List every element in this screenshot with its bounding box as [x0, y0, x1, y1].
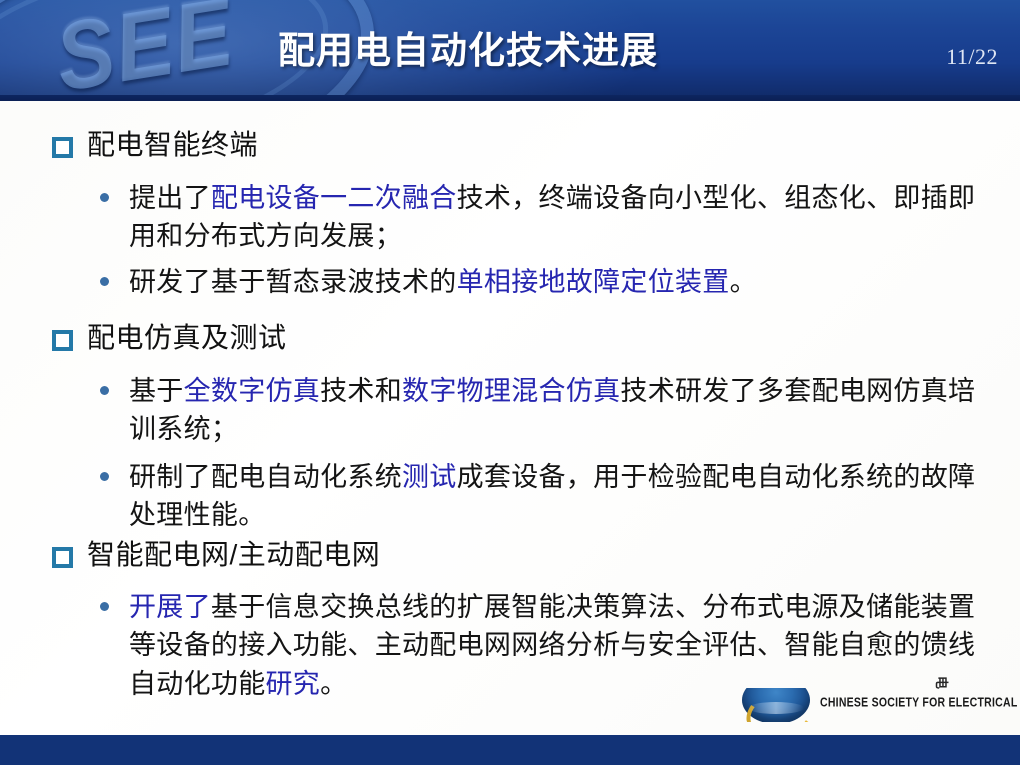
footer-bar: [0, 735, 1020, 765]
dot-bullet-icon: [100, 386, 109, 395]
square-bullet-icon: [52, 137, 73, 158]
bullet-run: 。: [320, 669, 347, 699]
bullet-run: 提出了: [129, 183, 211, 213]
bullet-item: 提出了配电设备一二次融合技术，终端设备向小型化、组态化、即插即用和分布式方向发展…: [100, 179, 980, 256]
csee-globe-logo-icon: [742, 688, 810, 722]
square-bullet-icon: [52, 330, 73, 351]
bullet-text: 开展了基于信息交换总线的扩展智能决策算法、分布式电源及储能装置等设备的接入功能、…: [129, 588, 980, 703]
slide-content: 配电智能终端 提出了配电设备一二次融合技术，终端设备向小型化、组态化、即插即用和…: [0, 101, 1020, 735]
dot-bullet-icon: [100, 193, 109, 202]
page-title: 配用电自动化技术进展: [278, 20, 658, 74]
dot-bullet-icon: [100, 472, 109, 481]
section-heading-3: 智能配电网/主动配电网: [52, 538, 952, 572]
section-heading-1: 配电智能终端: [52, 128, 952, 162]
bullet-text: 基于全数字仿真技术和数字物理混合仿真技术研发了多套配电网仿真培训系统；: [129, 372, 980, 449]
bullet-run: 基于: [129, 376, 184, 406]
bullet-run: 。: [730, 267, 757, 297]
bullet-text: 提出了配电设备一二次融合技术，终端设备向小型化、组态化、即插即用和分布式方向发展…: [129, 179, 980, 256]
bullet-run-highlight: 开展了: [129, 592, 211, 622]
corner-mark-label: 电: [933, 676, 952, 688]
bullet-item: 研发了基于暂态录波技术的单相接地故障定位装置。: [100, 263, 980, 301]
globe-band-shape: [748, 702, 804, 714]
bullet-run-highlight: 数字物理混合仿真: [402, 376, 620, 406]
bullet-run-highlight: 单相接地故障定位装置: [457, 267, 730, 297]
slide-header: SEE 配用电自动化技术进展 11/22: [0, 0, 1020, 101]
bullet-run-highlight: 测试: [402, 462, 457, 492]
section-heading-label: 智能配电网/主动配电网: [87, 538, 380, 572]
page-number-indicator: 11/22: [946, 44, 998, 70]
section-heading-label: 配电智能终端: [87, 128, 258, 162]
dot-bullet-icon: [100, 277, 109, 286]
bullet-item: 开展了基于信息交换总线的扩展智能决策算法、分布式电源及储能装置等设备的接入功能、…: [100, 588, 980, 703]
bullet-text: 研制了配电自动化系统测试成套设备，用于检验配电自动化系统的故障处理性能。: [129, 458, 980, 535]
section-heading-label: 配电仿真及测试: [87, 321, 287, 355]
csee-watermark-logo: SEE: [48, 0, 241, 101]
bullet-text: 研发了基于暂态录波技术的单相接地故障定位装置。: [129, 263, 757, 301]
bullet-run-highlight: 配电设备一二次融合: [211, 183, 457, 213]
bullet-run-highlight: 研究: [266, 669, 321, 699]
bullet-item: 研制了配电自动化系统测试成套设备，用于检验配电自动化系统的故障处理性能。: [100, 458, 980, 535]
bullet-run: 基于信息交换总线的扩展智能决策算法、分布式电源及储能装置等设备的接入功能、主动配…: [129, 592, 975, 699]
bullet-run: 研制了配电自动化系统: [129, 462, 402, 492]
organization-name: CHINESE SOCIETY FOR ELECTRICAL ENGINEERI…: [820, 695, 1020, 710]
bullet-run-highlight: 全数字仿真: [184, 376, 321, 406]
slide: SEE 配用电自动化技术进展 11/22 配电智能终端 提出了配电设备一二次融合…: [0, 0, 1020, 765]
square-bullet-icon: [52, 547, 73, 568]
bullet-item: 基于全数字仿真技术和数字物理混合仿真技术研发了多套配电网仿真培训系统；: [100, 372, 980, 449]
bullet-run: 技术和: [320, 376, 402, 406]
section-heading-2: 配电仿真及测试: [52, 321, 952, 355]
dot-bullet-icon: [100, 602, 109, 611]
bullet-run: 研发了基于暂态录波技术的: [129, 267, 457, 297]
